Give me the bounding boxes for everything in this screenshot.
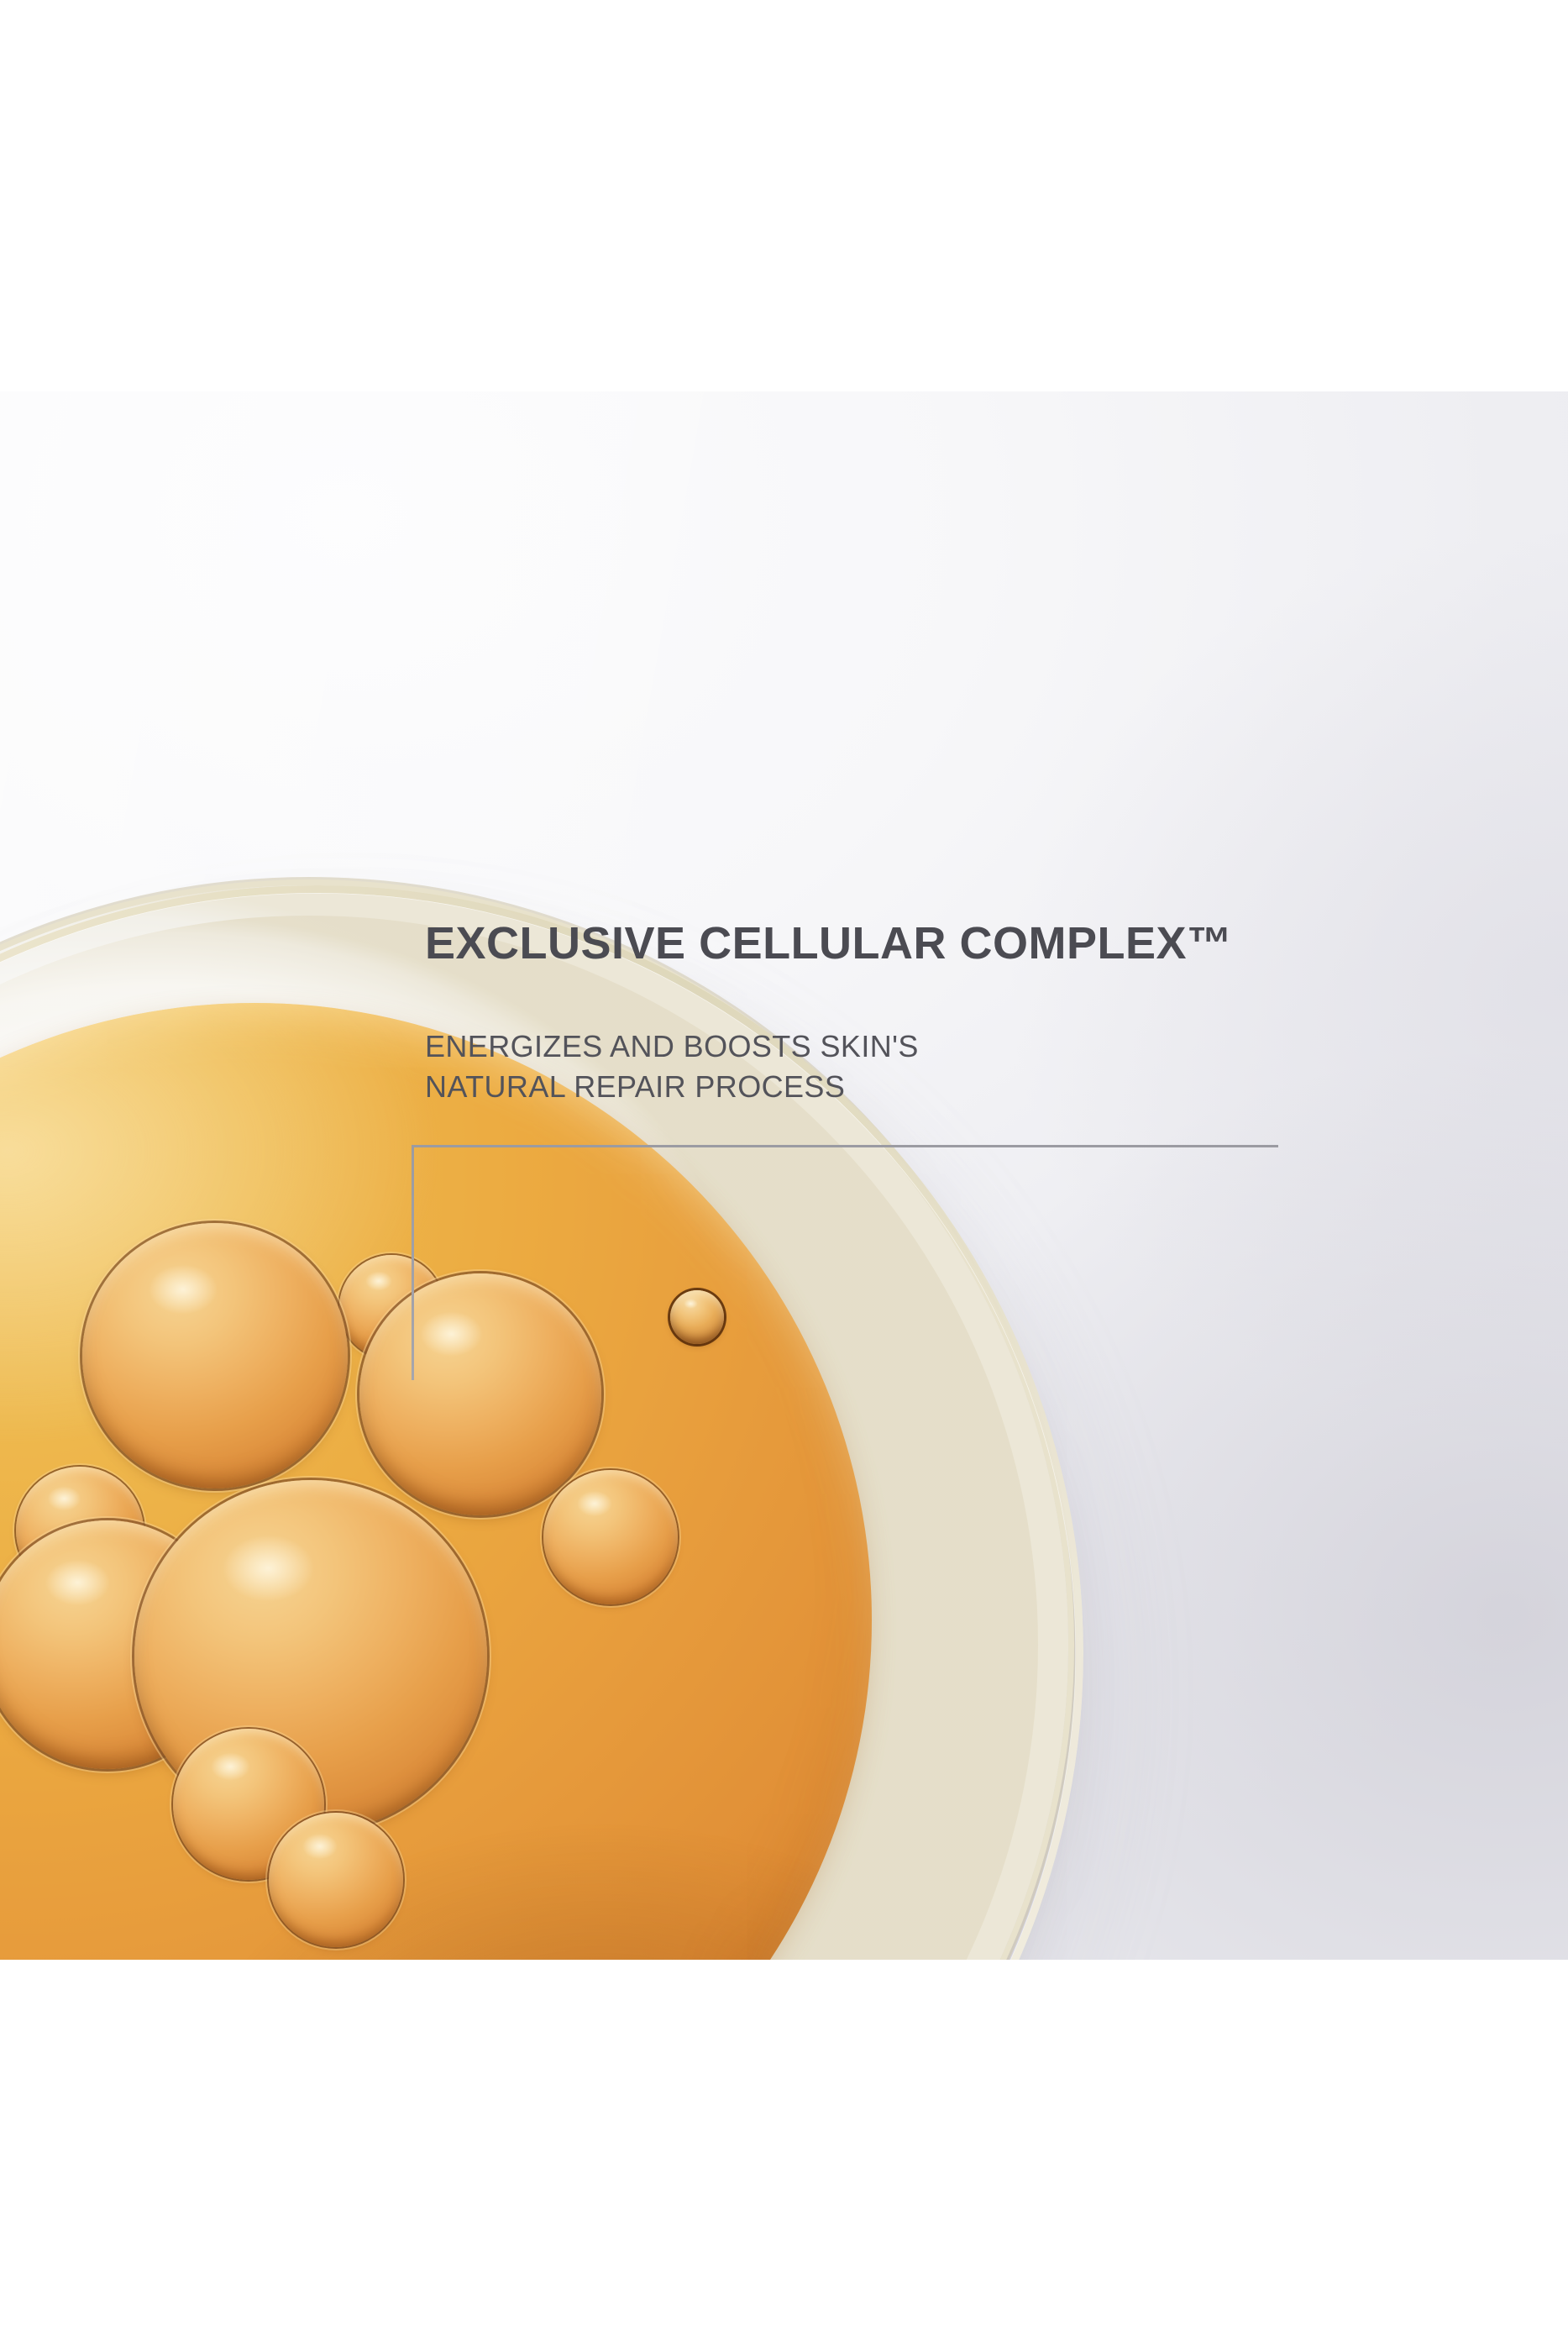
bubble-bottom-small xyxy=(269,1813,403,1947)
bubble-upper-right-big xyxy=(359,1273,601,1515)
bubble-upper-left-big xyxy=(82,1223,348,1488)
page-title: EXCLUSIVE CELLULAR COMPLEX™ xyxy=(425,919,1233,968)
letterbox-top xyxy=(0,0,1568,391)
callout-line-horizontal xyxy=(412,1145,1278,1147)
product-photo: EXCLUSIVE CELLULAR COMPLEX™ ENERGIZES AN… xyxy=(0,391,1568,1960)
page-subtitle: ENERGIZES AND BOOSTS SKIN'S NATURAL REPA… xyxy=(425,1026,919,1107)
callout-line-vertical xyxy=(412,1145,414,1380)
image-canvas: EXCLUSIVE CELLULAR COMPLEX™ ENERGIZES AN… xyxy=(0,0,1568,2352)
bubble-right-small xyxy=(543,1470,678,1604)
letterbox-bottom xyxy=(0,1960,1568,2352)
bubble-lone-floating xyxy=(670,1290,724,1344)
